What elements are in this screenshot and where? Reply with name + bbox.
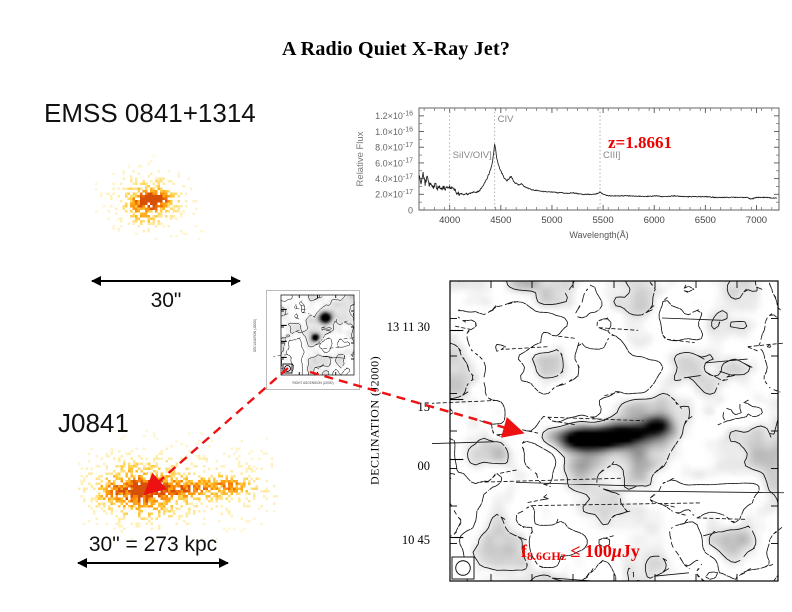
scalebar-line xyxy=(92,280,240,282)
flux-subscript: 8.6GHz xyxy=(527,549,566,563)
ytick-exponent: -16 xyxy=(403,111,413,118)
xtick-label: 5500 xyxy=(593,215,614,226)
xtick-label: 6000 xyxy=(644,215,665,226)
scalebar-line xyxy=(78,562,228,564)
spectrum-plot: 02.0×10-174.0×10-176.0×10-178.0×10-171.0… xyxy=(345,96,785,248)
object-label-emss: EMSS 0841+1314 xyxy=(44,98,256,129)
emission-line-label: SiIV/OIV] xyxy=(453,150,492,161)
xray-image-emss0841 xyxy=(95,150,205,250)
xaxis-title: Wavelength(Å) xyxy=(569,230,628,240)
xtick-label: 6500 xyxy=(695,215,716,226)
page-title: A Radio Quiet X-Ray Jet? xyxy=(0,38,792,61)
inset-map-svg xyxy=(267,291,357,387)
flux-mu: μ xyxy=(612,541,622,561)
arrow-left-icon xyxy=(77,558,87,568)
ytick-label: 2.0×10-17 xyxy=(375,189,413,200)
flux-limit-annotation: f8.6GHz ≤ 100μJy xyxy=(521,541,640,564)
scalebar-label: 30" xyxy=(92,289,240,313)
dec-tick-label-1: 15 xyxy=(380,400,430,415)
ytick-exponent: -17 xyxy=(403,173,413,180)
ytick-label: 4.0×10-17 xyxy=(375,173,413,184)
inset-ra-axis-title: RIGHT ASCENSION (J2000) xyxy=(268,381,358,385)
ytick-exponent: -17 xyxy=(403,142,413,149)
dec-tick-label-3: 10 45 xyxy=(380,533,430,548)
scalebar-30arcsec: 30" xyxy=(92,272,240,306)
redshift-annotation: z=1.8661 xyxy=(608,133,672,153)
ytick-exponent: -16 xyxy=(403,126,413,133)
ytick-exponent: -17 xyxy=(403,158,413,165)
emission-line-label: CIV xyxy=(498,114,515,125)
xtick-label: 7000 xyxy=(746,215,767,226)
flux-value: ≤ 100 xyxy=(566,541,612,561)
arrow-right-icon xyxy=(231,276,241,286)
yaxis-title: Relative Flux xyxy=(355,131,366,186)
flux-unit: Jy xyxy=(622,541,640,561)
ytick-label: 1.0×10-16 xyxy=(375,126,413,137)
scalebar-30arcsec-273kpc: 30" = 273 kpc xyxy=(78,535,228,575)
xtick-label: 4000 xyxy=(439,215,460,226)
ytick-label: 8.0×10-17 xyxy=(375,142,413,153)
ytick-exponent: -17 xyxy=(403,189,413,196)
slide-canvas: A Radio Quiet X-Ray Jet? EMSS 0841+1314 … xyxy=(0,0,792,612)
ytick-label: 6.0×10-17 xyxy=(375,158,413,169)
xtick-label: 4500 xyxy=(490,215,511,226)
xray-image-j0841-jet xyxy=(78,430,278,540)
ytick-label: 0 xyxy=(408,205,413,215)
arrow-right-icon xyxy=(219,558,229,568)
dec-tick-label-0: 13 11 30 xyxy=(380,320,430,335)
declination-axis-title: DECLINATION (J2000) xyxy=(366,330,384,510)
ytick-label: 1.2×10-16 xyxy=(375,111,413,122)
spectrum-svg: 02.0×10-174.0×10-176.0×10-178.0×10-171.0… xyxy=(345,96,785,248)
scalebar-label: 30" = 273 kpc xyxy=(78,533,228,557)
inset-radio-contour-map xyxy=(266,290,360,390)
xtick-label: 5000 xyxy=(541,215,562,226)
inset-declination-axis-title: DECLINATION (J2000) xyxy=(250,300,260,372)
radio-greyscale-image xyxy=(450,281,778,581)
dec-tick-label-2: 00 xyxy=(380,459,430,474)
arrow-left-icon xyxy=(91,276,101,286)
